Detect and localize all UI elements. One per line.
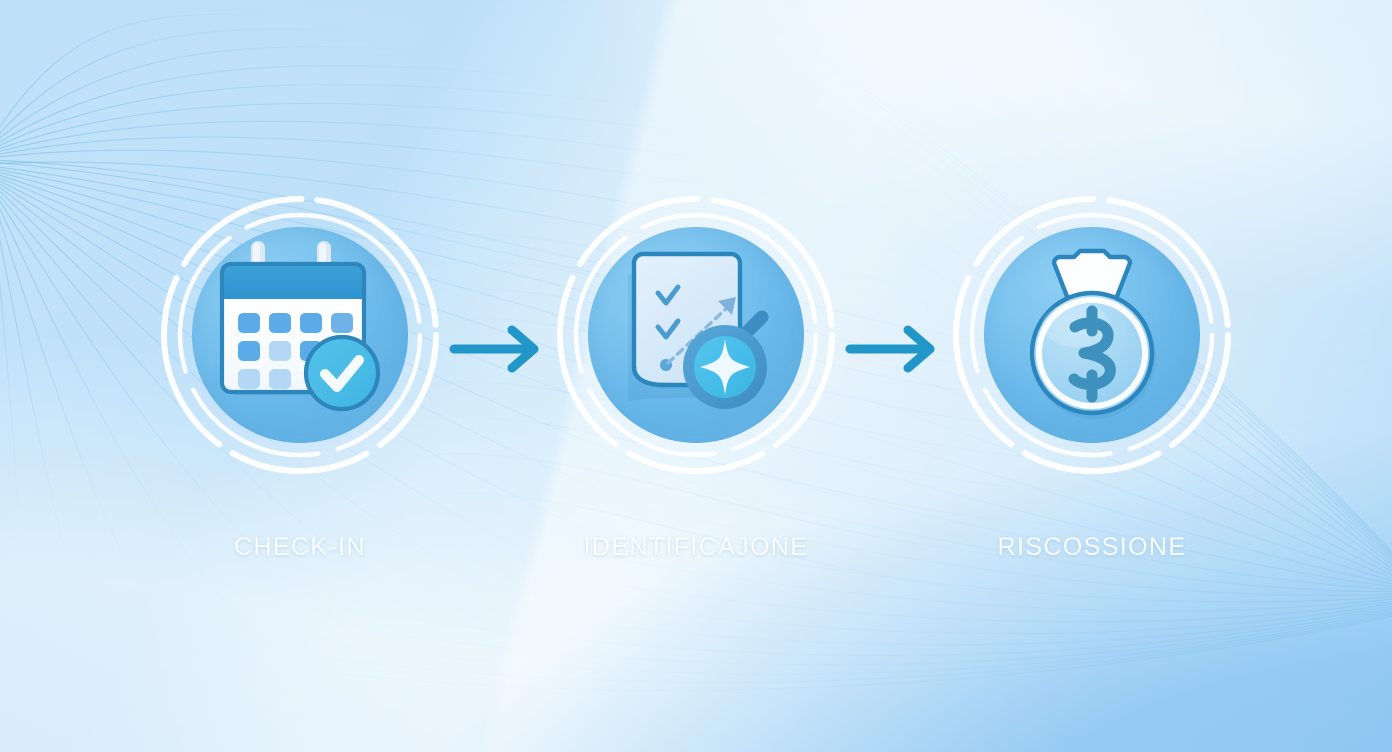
step-3-label: RISCOSSIONE	[998, 533, 1187, 562]
arrow-step1-to-step2	[444, 321, 552, 377]
document-analysis-icon	[588, 227, 804, 443]
step-1-label: CHECK-IN	[234, 533, 366, 562]
step-riscossione[interactable]: RISCOSSIONE	[948, 191, 1236, 562]
calendar-check-icon	[192, 227, 408, 443]
arrow-step2-to-step3	[840, 321, 948, 377]
check-badge	[306, 337, 378, 409]
money-bag-icon	[984, 227, 1200, 443]
step-identificazione[interactable]: IDENTIFICAJONE	[552, 191, 840, 562]
step-2-badge	[552, 191, 840, 479]
infographic-canvas: CHECK-IN	[0, 0, 1392, 752]
step-3-badge	[948, 191, 1236, 479]
process-flow-row: CHECK-IN	[0, 0, 1392, 752]
step-check-in[interactable]: CHECK-IN	[156, 191, 444, 562]
step-1-badge	[156, 191, 444, 479]
step-2-label: IDENTIFICAJONE	[584, 533, 809, 562]
